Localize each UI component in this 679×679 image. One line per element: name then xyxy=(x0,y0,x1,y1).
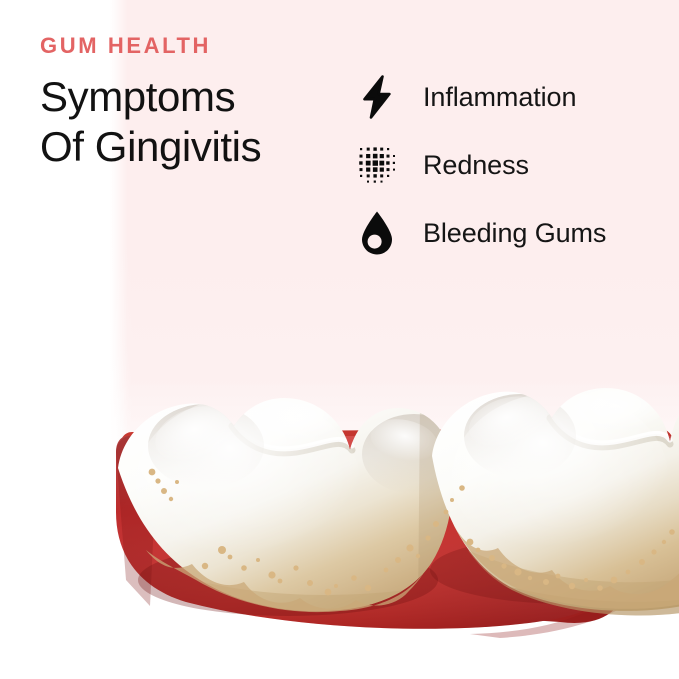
dot-grid-icon xyxy=(355,141,399,189)
page-title-line-1: Symptoms xyxy=(40,72,340,122)
gingivitis-teeth-and-gum-illustration xyxy=(0,250,679,679)
symptom-item-redness: Redness xyxy=(355,131,665,199)
symptom-item-inflammation: Inflammation xyxy=(355,63,665,131)
symptom-label-inflammation: Inflammation xyxy=(423,84,576,111)
symptom-label-bleeding-gums: Bleeding Gums xyxy=(423,220,606,247)
symptom-list: Inflammation xyxy=(355,63,665,267)
heading-block: GUM HEALTH Symptoms Of Gingivitis xyxy=(40,34,340,171)
page-title: Symptoms Of Gingivitis xyxy=(40,72,340,171)
symptom-label-redness: Redness xyxy=(423,152,529,179)
lightning-bolt-icon xyxy=(355,73,399,121)
page-title-line-2: Of Gingivitis xyxy=(40,122,340,172)
eyebrow-label: GUM HEALTH xyxy=(40,34,340,58)
gingivitis-infographic: GUM HEALTH Symptoms Of Gingivitis Inflam… xyxy=(0,0,679,679)
